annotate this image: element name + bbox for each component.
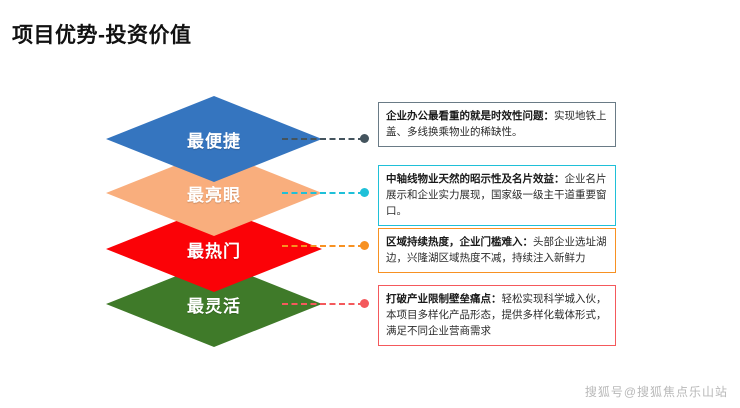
connector-dot-2 bbox=[360, 241, 369, 250]
callout-lead-2: 区域持续热度，企业门槛难入： bbox=[386, 236, 533, 248]
connector-dot-3 bbox=[360, 299, 369, 308]
diamond-stack: 最便捷 最亮眼 最热门 最灵活 bbox=[106, 96, 336, 346]
page-title: 项目优势-投资价值 bbox=[12, 19, 192, 49]
connector-line-1 bbox=[282, 192, 364, 194]
callout-box-0: 企业办公最看重的就是时效性问题：实现地铁上盖、多线换乘物业的稀缺性。 bbox=[378, 102, 616, 147]
callout-lead-3: 打破产业限制壁垒痛点： bbox=[386, 293, 502, 305]
connector-line-2 bbox=[282, 245, 364, 247]
connector-line-3 bbox=[282, 303, 364, 305]
callout-box-1: 中轴线物业天然的昭示性及名片效益：企业名片展示和企业实力展现，国家级一级主干道重… bbox=[378, 165, 616, 226]
callout-lead-1: 中轴线物业天然的昭示性及名片效益： bbox=[386, 173, 565, 185]
watermark: 搜狐号@搜狐焦点乐山站 bbox=[585, 383, 728, 400]
connector-line-0 bbox=[282, 138, 364, 140]
callout-box-3: 打破产业限制壁垒痛点：轻松实现科学城入伙，本项目多样化产品形态，提供多样化载体形… bbox=[378, 285, 616, 346]
connector-dot-0 bbox=[360, 134, 369, 143]
callout-lead-0: 企业办公最看重的就是时效性问题： bbox=[386, 110, 554, 122]
connector-dot-1 bbox=[360, 188, 369, 197]
callout-box-2: 区域持续热度，企业门槛难入：头部企业选址湖边，兴隆湖区域热度不减，持续注入新鲜力 bbox=[378, 228, 616, 273]
